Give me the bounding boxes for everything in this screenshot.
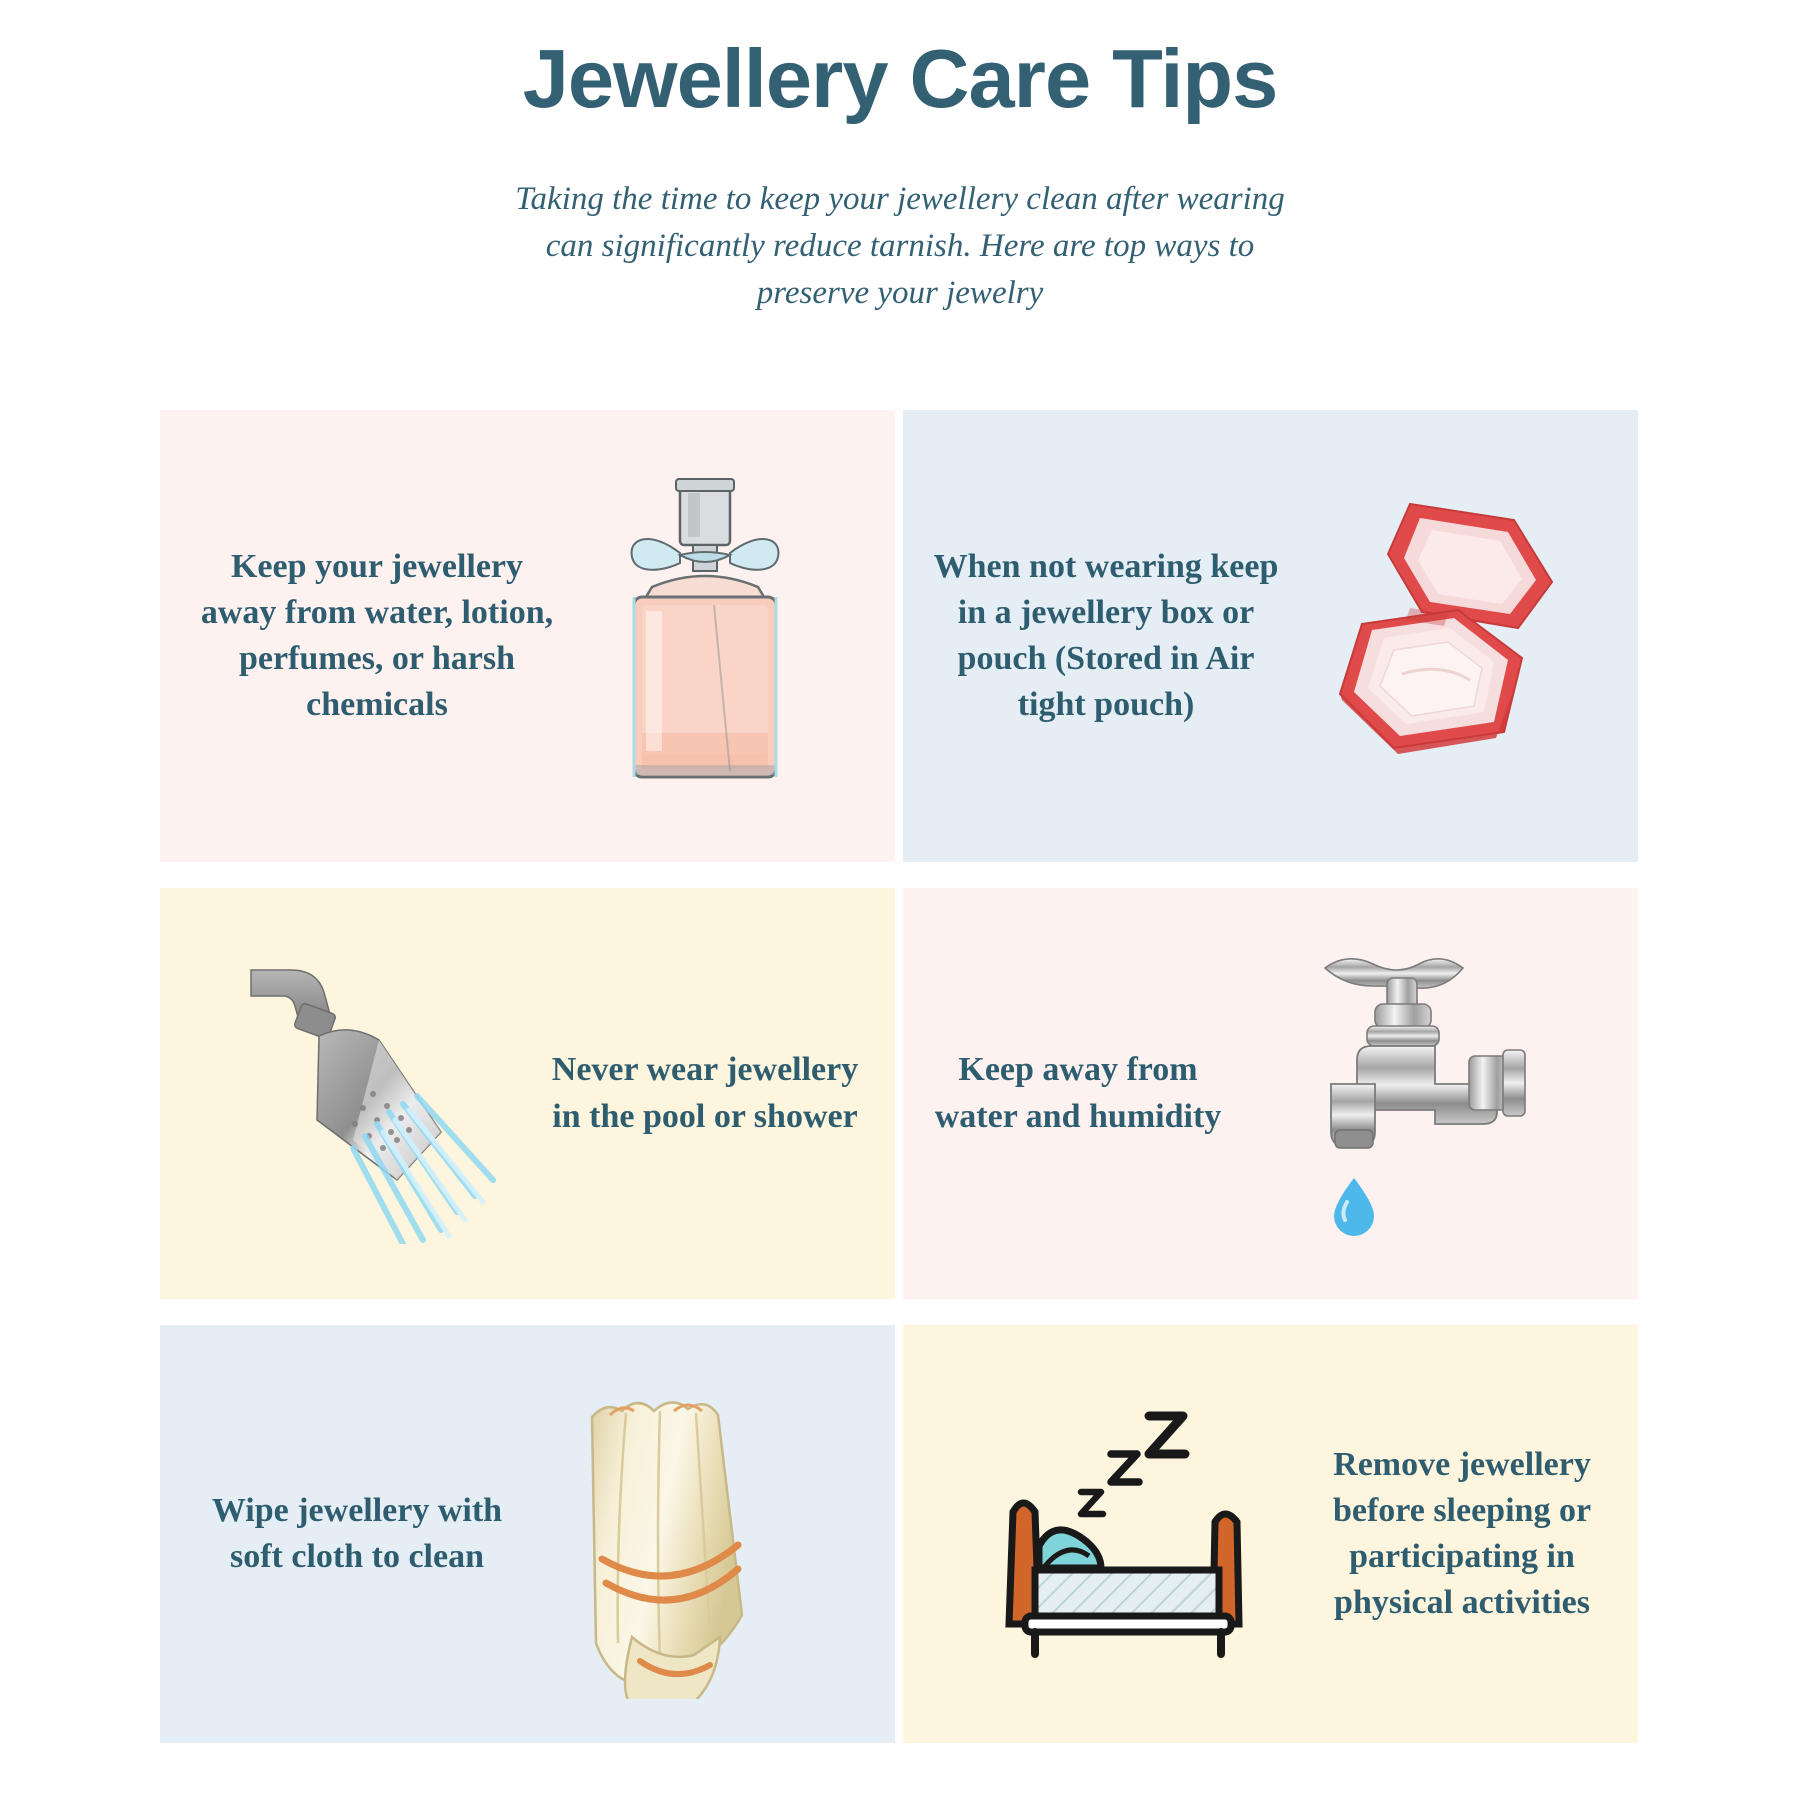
tip-card-4[interactable]: Keep away from water and humidity xyxy=(903,888,1638,1299)
tip-card-2-text: When not wearing keep in a jewellery box… xyxy=(903,544,1283,729)
page-title: Jewellery Care Tips xyxy=(0,30,1800,128)
infographic-page: Jewellery Care Tips Taking the time to k… xyxy=(0,0,1800,1800)
tip-card-1-text: Keep your jewellery away from water, lot… xyxy=(160,544,560,729)
perfume-bottle-icon xyxy=(560,410,850,862)
page-subtitle: Taking the time to keep your jewellery c… xyxy=(505,176,1295,317)
tip-card-6-text: Remove jewellery before sleeping or part… xyxy=(1298,1442,1638,1627)
jewellery-box-icon xyxy=(1283,410,1613,862)
tip-card-3-text: Never wear jewellery in the pool or show… xyxy=(535,1047,895,1139)
shower-head-icon xyxy=(225,888,535,1299)
tip-card-2[interactable]: When not wearing keep in a jewellery box… xyxy=(903,410,1638,862)
sleeping-bed-icon xyxy=(968,1325,1298,1743)
tip-card-5[interactable]: Wipe jewellery with soft cloth to clean xyxy=(160,1325,895,1743)
tip-card-3[interactable]: Never wear jewellery in the pool or show… xyxy=(160,888,895,1299)
tip-card-4-text: Keep away from water and humidity xyxy=(903,1047,1243,1139)
tip-card-5-text: Wipe jewellery with soft cloth to clean xyxy=(160,1488,520,1580)
tip-card-6[interactable]: Remove jewellery before sleeping or part… xyxy=(903,1325,1638,1743)
tip-card-1[interactable]: Keep your jewellery away from water, lot… xyxy=(160,410,895,862)
water-tap-icon xyxy=(1243,888,1563,1299)
soft-cloth-icon xyxy=(520,1325,820,1743)
header: Jewellery Care Tips Taking the time to k… xyxy=(0,0,1800,317)
tips-grid: Keep your jewellery away from water, lot… xyxy=(160,410,1638,1743)
